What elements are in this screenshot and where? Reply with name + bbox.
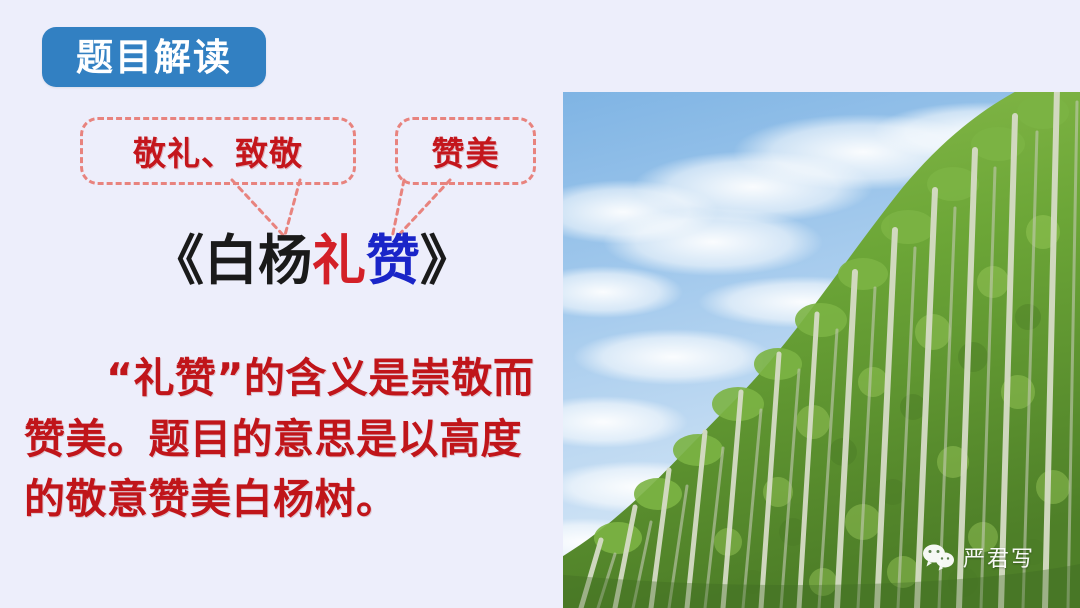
- work-title: 《白杨礼赞》: [150, 233, 474, 290]
- section-title-label: 题目解读: [76, 39, 232, 76]
- poplar-grove-illustration: [563, 92, 1080, 608]
- callout-bubble-salute: 敬礼、致敬: [80, 117, 356, 185]
- explanation-paragraph: “礼赞”的含义是崇敬而赞美。题目的意思是以高度的敬意赞美白杨树。: [24, 348, 548, 530]
- work-title-baiyang: 白杨: [204, 229, 312, 292]
- poplar-grove-photo: [563, 92, 1080, 608]
- callout-label-salute: 敬礼、致敬: [133, 127, 303, 175]
- callout-label-praise: 赞美: [432, 127, 500, 175]
- work-title-zan: 赞: [366, 229, 420, 292]
- work-title-li: 礼: [312, 229, 366, 292]
- wechat-watermark: 严君写: [922, 541, 1035, 573]
- work-title-bracket-close: 》: [420, 229, 474, 292]
- watermark-label: 严君写: [963, 541, 1035, 573]
- work-title-bracket-open: 《: [150, 229, 204, 292]
- slide-canvas: 题目解读 敬礼、致敬 赞美 《白杨礼赞》 “礼赞”的含义是崇敬而赞美。题目的意思…: [0, 0, 1080, 608]
- section-title-banner: 题目解读: [42, 27, 266, 87]
- callout-bubble-praise: 赞美: [395, 117, 536, 185]
- wechat-icon: [922, 543, 956, 571]
